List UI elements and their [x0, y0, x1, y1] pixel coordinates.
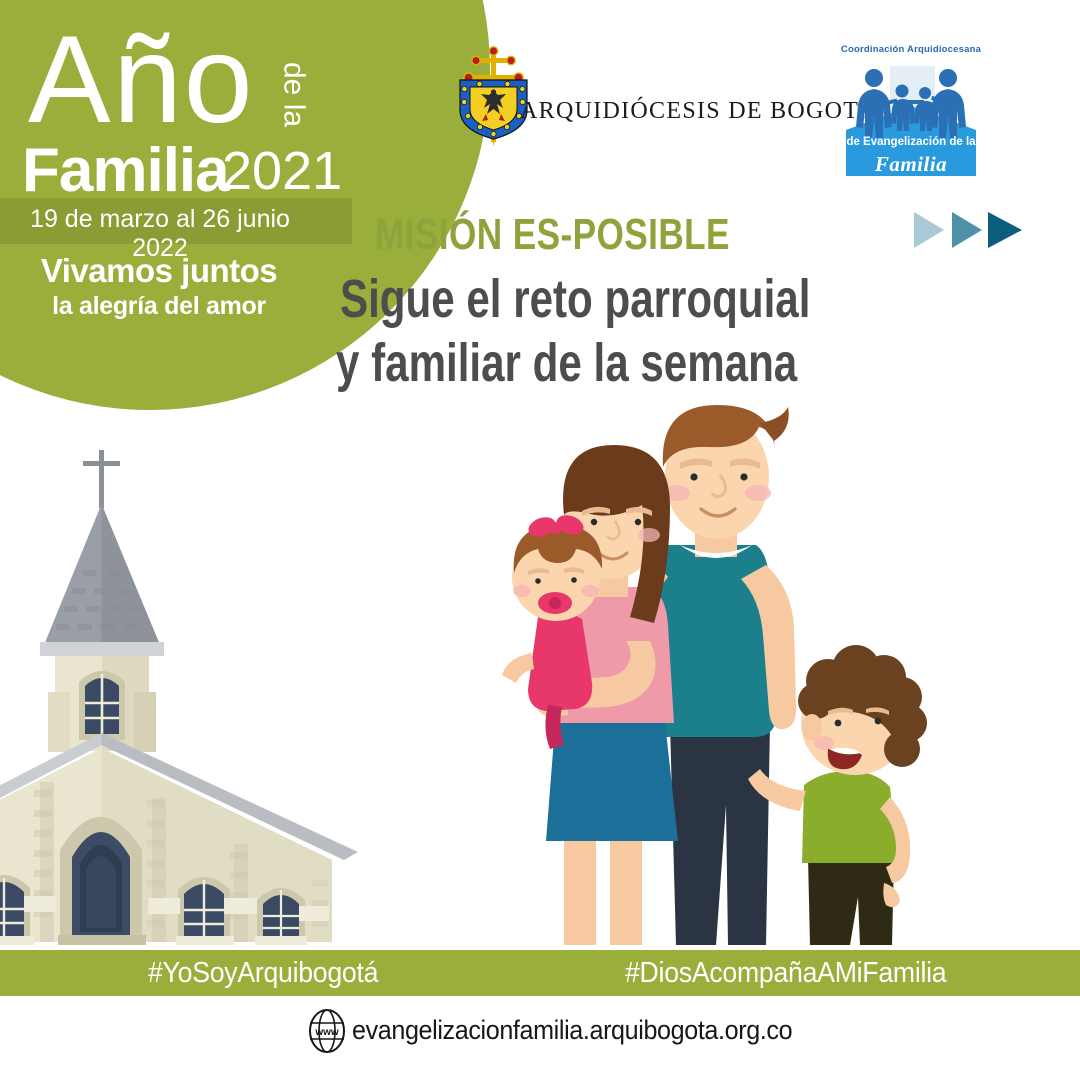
spire-ledge	[40, 642, 164, 656]
year-label: 2021	[222, 144, 342, 198]
headline-line-2: y familiar de la semana	[336, 332, 797, 394]
church-cross-icon	[83, 450, 120, 508]
family-illustration	[498, 405, 968, 955]
slogan-line-2: la alegría del amor	[0, 292, 318, 321]
triangle-right-icon-1	[914, 212, 944, 248]
headline-line-1: Sigue el reto parroquial	[340, 268, 810, 330]
shield-icon	[460, 80, 527, 139]
family-logo-word: Familia	[838, 152, 984, 177]
svg-text:www: www	[314, 1027, 339, 1038]
arrow-group	[912, 208, 1032, 252]
de-la-label: de la	[278, 62, 309, 127]
family-evangelization-logo: Coordinación Arquidiocesana de Evangeliz…	[828, 44, 994, 184]
church-illustration	[0, 420, 382, 955]
hashtag-left[interactable]: #YoSoyArquibogotá	[148, 957, 378, 990]
www-globe-icon: www	[305, 1008, 349, 1054]
hashtag-right[interactable]: #DiosAcompañaAMiFamilia	[625, 957, 946, 990]
triangle-right-icon-3	[988, 212, 1022, 248]
familia-heading: Familia	[22, 140, 229, 202]
headline-kicker: MISIÓN ES-POSIBLE	[375, 210, 730, 260]
slogan-line-1: Vivamos juntos	[0, 252, 318, 290]
website-url[interactable]: evangelizacionfamilia.arquibogota.org.co	[352, 1015, 792, 1046]
ano-heading: Año	[28, 18, 255, 142]
archdiocese-name-label: ARQUIDIÓCESIS DE BOGOTÁ	[520, 98, 878, 125]
badge-text-group: Año de la Familia 2021 19 de marzo al 26…	[0, 0, 360, 420]
family-logo-caption: Coordinación Arquidiocesana	[828, 44, 994, 55]
pacifier-icon	[538, 592, 572, 614]
triangle-right-icon-2	[952, 212, 982, 248]
family-logo-subtitle: de Evangelización de la	[838, 136, 984, 148]
archdiocese-logo	[450, 42, 790, 152]
poster-canvas: Año de la Familia 2021 19 de marzo al 26…	[0, 0, 1080, 1080]
